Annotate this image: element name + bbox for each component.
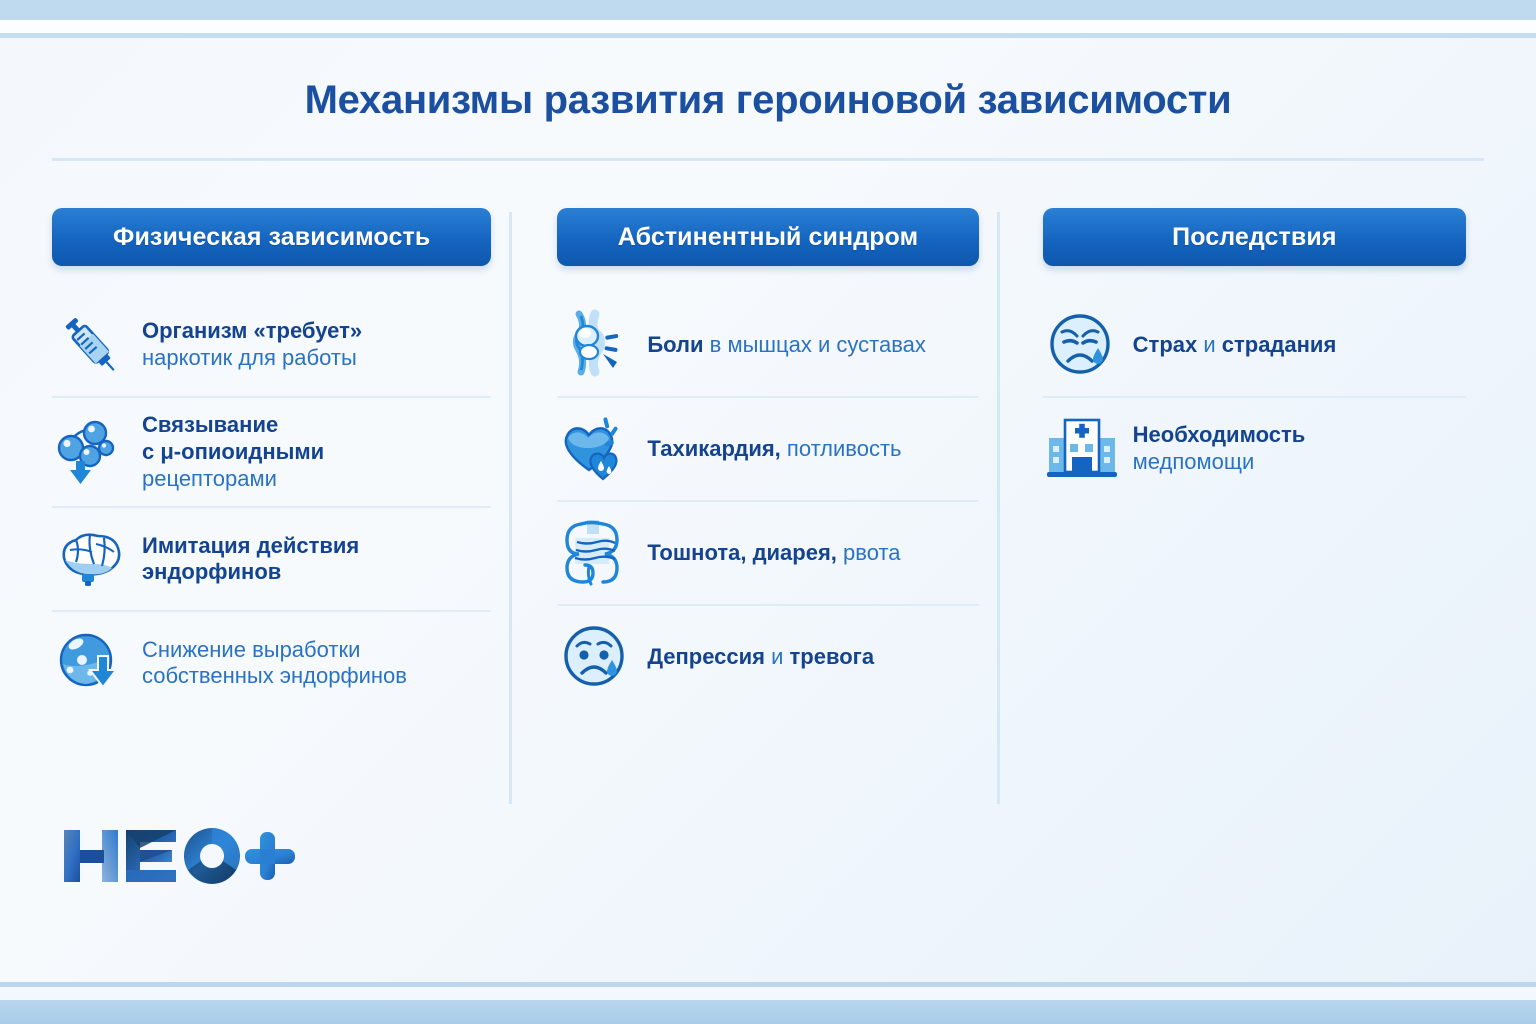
list-item-bold: Депрессия [647,644,765,669]
bottom-band-white [0,987,1536,1000]
list-item-text: Имитация действия эндорфинов [142,533,359,587]
page-title: Механизмы развития героиновой зависимост… [0,78,1536,123]
list-item-text: Необходимость медпомощи [1133,422,1306,476]
list-item-regular: Снижение выработки [142,637,360,662]
brain-icon [54,522,128,596]
list-item[interactable]: Тахикардия, потливость [557,396,978,500]
bottom-band [0,1000,1536,1024]
sphere-down-arrow-icon [54,626,128,700]
list-item-text: Боли в мышцах и суставах [647,332,926,359]
list-item-regular: в мышцах и суставах [704,332,926,357]
molecule-receptor-icon [54,415,128,489]
sad-face-tear-icon [559,620,633,694]
column-header-label: Физическая зависимость [113,223,430,252]
list-item[interactable]: Страх и страдания [1043,294,1466,396]
list-item-regular: наркотик для работы [142,345,357,370]
hospital-icon [1045,412,1119,486]
list-item-bold-2: эндорфинов [142,559,281,584]
intestines-icon [559,516,633,590]
list-item[interactable]: Снижение выработки собственных эндорфино… [52,610,491,714]
list-item-text: Организм «требует» наркотик для работы [142,318,362,372]
list-item[interactable]: Имитация действия эндорфинов [52,506,491,610]
column-header-label: Последствия [1172,223,1336,252]
knee-joint-icon [559,308,633,382]
top-band-white [0,20,1536,33]
top-band [0,0,1536,20]
list-item-text: Депрессия и тревога [647,644,874,671]
column-header-withdrawal[interactable]: Абстинентный синдром [557,208,978,266]
list-item-text: Страх и страдания [1133,332,1337,359]
syringe-icon [54,308,128,382]
list-item-regular: и [765,644,790,669]
list-item-regular: потливость [781,436,902,461]
list-item-bold: Боли [647,332,703,357]
list-item-text: Связывание с μ-опиоидными рецепторами [142,412,324,492]
column-header-consequences[interactable]: Последствия [1043,208,1466,266]
list-item-regular: рецепторами [142,466,277,491]
list-item-bold: Тахикардия, [647,436,780,461]
list-item-bold-2: тревога [790,644,875,669]
heart-sweat-icon [559,412,633,486]
list-item-text: Тошнота, диарея, рвота [647,540,900,567]
list-item-bold-2: с μ-опиоидными [142,439,324,464]
list-item-text: Снижение выработки собственных эндорфино… [142,637,407,691]
list-item-regular: медпомощи [1133,449,1255,474]
list-item-bold: Страх [1133,332,1198,357]
column-header-label: Абстинентный синдром [618,223,918,252]
list-item-text: Тахикардия, потливость [647,436,901,463]
list-item-bold: Организм «требует» [142,318,362,343]
column-header-physical[interactable]: Физическая зависимость [52,208,491,266]
infographic-slide: Механизмы развития героиновой зависимост… [0,0,1536,1024]
top-band-line [0,33,1536,38]
list-item-bold: Связывание [142,412,278,437]
list-item-regular: и [1197,332,1222,357]
column-divider [997,212,1000,804]
title-divider [52,158,1484,161]
list-item-regular-2: собственных эндорфинов [142,663,407,688]
list-item-regular: рвота [837,540,901,565]
list-item[interactable]: Необходимость медпомощи [1043,396,1466,500]
column-physical-dependence: Физическая зависимость [52,208,509,808]
list-item-bold: Необходимость [1133,422,1306,447]
columns-container: Физическая зависимость [52,208,1484,808]
list-item-bold-2: страдания [1222,332,1337,357]
list-item[interactable]: Тошнота, диарея, рвота [557,500,978,604]
column-divider [509,212,512,804]
list-item-bold: Имитация действия [142,533,359,558]
brand-logo[interactable] [60,818,300,890]
list-item[interactable]: Организм «требует» наркотик для работы [52,294,491,396]
list-item[interactable]: Связывание с μ-опиоидными рецепторами [52,396,491,506]
column-withdrawal-syndrome: Абстинентный синдром [509,208,996,808]
list-item[interactable]: Боли в мышцах и суставах [557,294,978,396]
sad-face-tear-icon [1045,308,1119,382]
column-consequences: Последствия [997,208,1484,808]
list-item-bold: Тошнота, диарея, [647,540,837,565]
list-item[interactable]: Депрессия и тревога [557,604,978,708]
